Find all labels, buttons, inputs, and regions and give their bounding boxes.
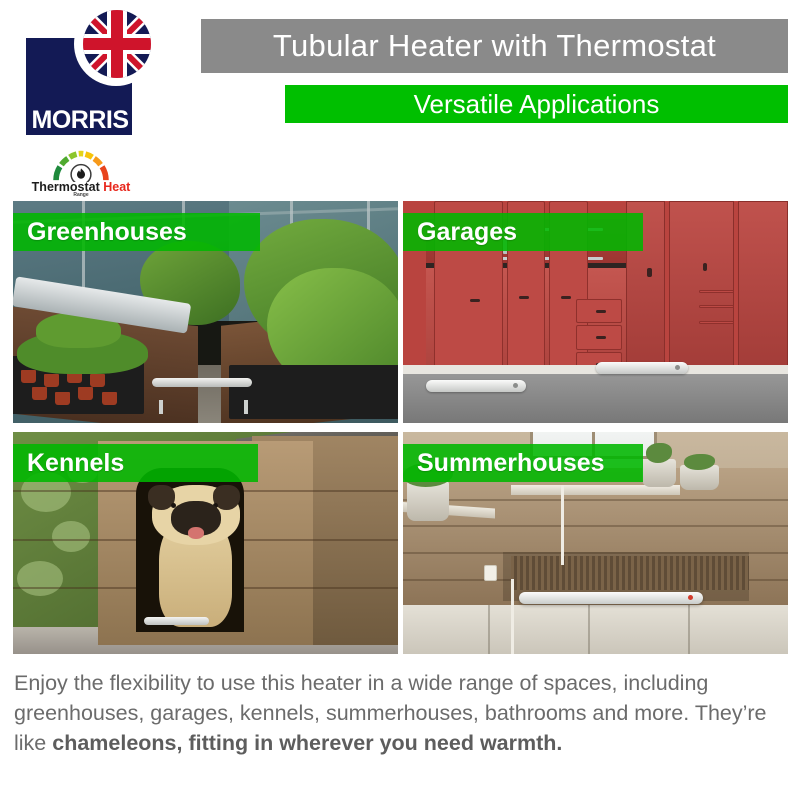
gallery-tile-summerhouses: Summerhouses	[403, 432, 788, 654]
gallery-tag-kennels: Kennels	[13, 444, 258, 482]
gallery-tag-greenhouses: Greenhouses	[13, 213, 260, 251]
description-emphasis: chameleons, fitting in wherever you need…	[52, 731, 562, 755]
morris-logo: MORRIS	[18, 2, 158, 142]
gallery-tag-label: Garages	[417, 218, 517, 247]
gallery-tag-summerhouses: Summerhouses	[403, 444, 643, 482]
flame-gauge-icon	[50, 150, 112, 182]
page-title: Tubular Heater with Thermostat	[273, 28, 716, 64]
header-title-bar: Tubular Heater with Thermostat	[201, 19, 788, 73]
promo-page: MORRIS Thermostat Heat Ran	[0, 0, 800, 800]
gallery-tag-garages: Garages	[403, 213, 643, 251]
gallery-tag-label: Greenhouses	[27, 218, 187, 247]
gallery-tile-garages: Garages	[403, 201, 788, 423]
gallery-tile-greenhouses: Greenhouses	[13, 201, 398, 423]
header: MORRIS Thermostat Heat Ran	[0, 0, 800, 200]
application-gallery: Greenhouses	[13, 201, 788, 654]
gallery-tag-label: Summerhouses	[417, 449, 605, 478]
badge-sublabel: Range	[22, 192, 140, 198]
header-subtitle-bar: Versatile Applications	[285, 85, 788, 123]
gallery-tag-label: Kennels	[27, 449, 124, 478]
description-paragraph: Enjoy the flexibility to use this heater…	[14, 668, 789, 758]
uk-flag-roundel-icon	[83, 10, 151, 78]
thermostat-heat-badge: Thermostat Heat Range	[22, 150, 140, 198]
gallery-tile-kennels: Kennels	[13, 432, 398, 654]
page-subtitle: Versatile Applications	[414, 89, 660, 120]
logo-wordmark: MORRIS	[30, 106, 130, 135]
